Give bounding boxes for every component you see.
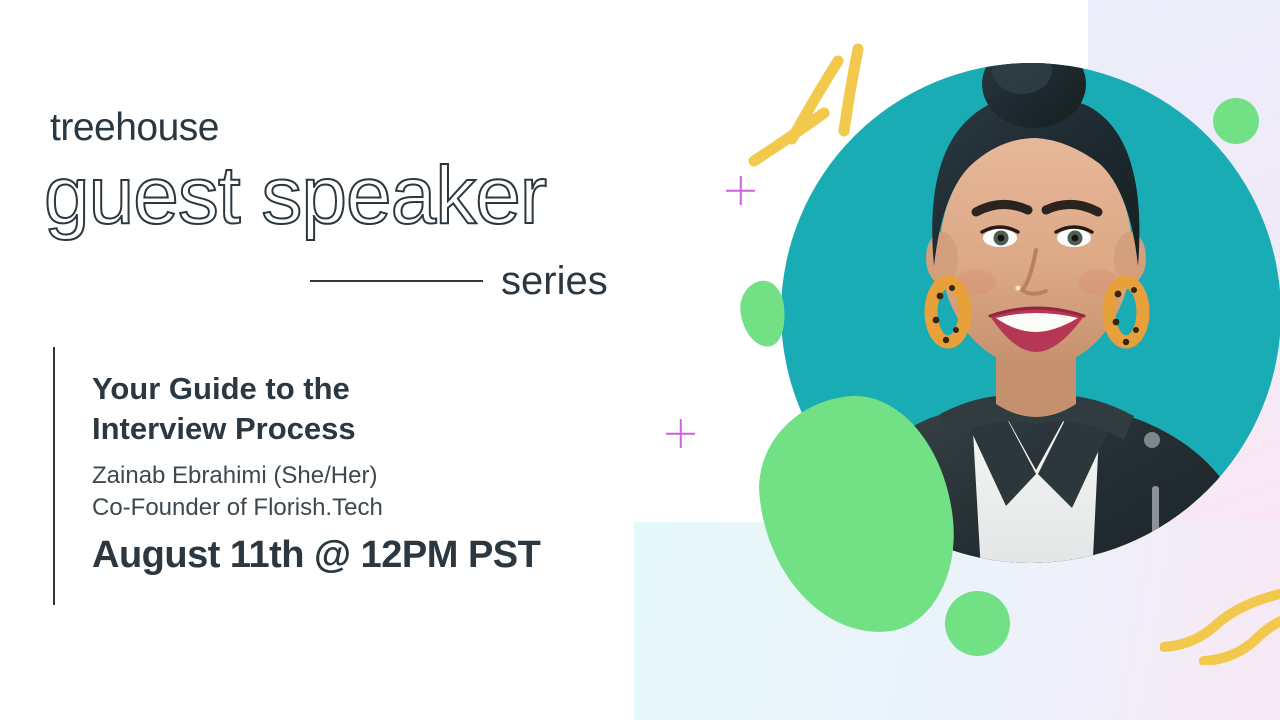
speaker-name: Zainab Ebrahimi (She/Her) [92,460,562,492]
talk-title-line2: Interview Process [92,409,562,449]
series-title-outline: guest speaker [44,155,546,237]
green-circle-shape-top [1213,98,1259,144]
talk-title: Your Guide to the Interview Process [92,369,562,448]
series-divider-rule [310,280,483,282]
green-circle-shape-bottom [945,591,1010,656]
speaker-details: Zainab Ebrahimi (She/Her) Co-Founder of … [92,460,562,523]
talk-title-line1: Your Guide to the [92,369,562,409]
yellow-wave-strokes-icon [1160,585,1280,665]
promo-slide: treehouse guest speaker series Your Guid… [0,0,1280,720]
yellow-burst-strokes-icon [740,35,900,195]
plus-mark-icon-lower [666,419,695,448]
speaker-role: Co-Founder of Florish.Tech [92,492,562,524]
vertical-divider-rule [53,347,55,605]
series-label: series [501,261,608,301]
series-label-row: series [310,258,625,304]
event-datetime: August 11th @ 12PM PST [92,535,652,577]
brand-wordmark: treehouse [50,108,219,147]
